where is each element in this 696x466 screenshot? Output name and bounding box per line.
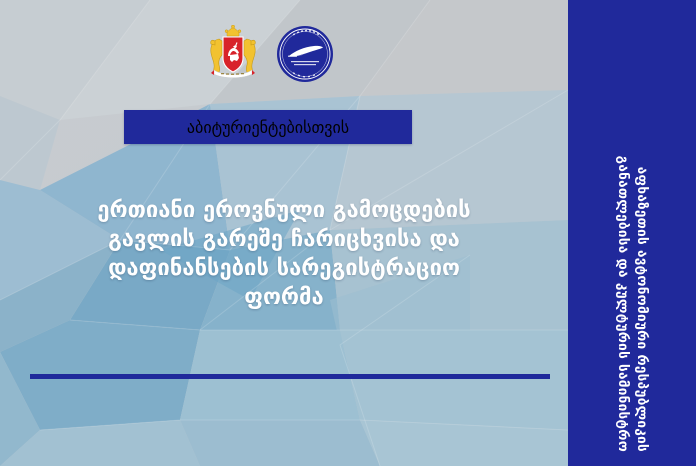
page-title-line-3: დაფინანსების სარეგისტრაციო — [34, 254, 534, 283]
ministry-name: აფხაზეთის ავტონომიური რესპუბლიკის განათლ… — [613, 156, 651, 452]
ministry-sidebar-text-wrap: აფხაზეთის ავტონომიური რესპუბლიკის განათლ… — [568, 0, 696, 466]
audience-banner-label: აბიტურიენტებისთვის — [187, 118, 349, 137]
poster-root: აბიტურიენტებისთვის ერთიანი ეროვნული გამო… — [0, 0, 696, 466]
page-title: ერთიანი ეროვნული გამოცდების გავლის გარეშ… — [34, 196, 534, 312]
audience-banner: აბიტურიენტებისთვის — [124, 110, 412, 144]
ministry-name-line-1: აფხაზეთის ავტონომიური რესპუბლიკის — [632, 156, 651, 452]
ministry-name-line-2: განათლებისა და კულტურის სამინისტრო — [613, 156, 632, 452]
georgia-coat-of-arms-icon — [206, 25, 260, 83]
page-title-line-1: ერთიანი ეროვნული გამოცდების — [34, 196, 534, 225]
naec-seal-icon — [276, 25, 334, 83]
ministry-sidebar: აფხაზეთის ავტონომიური რესპუბლიკის განათლ… — [568, 0, 696, 466]
logo-row — [206, 24, 346, 84]
page-title-line-2: გავლის გარეშე ჩარიცხვისა და — [34, 225, 534, 254]
page-title-line-4: ფორმა — [34, 283, 534, 312]
horizontal-divider — [30, 374, 550, 379]
